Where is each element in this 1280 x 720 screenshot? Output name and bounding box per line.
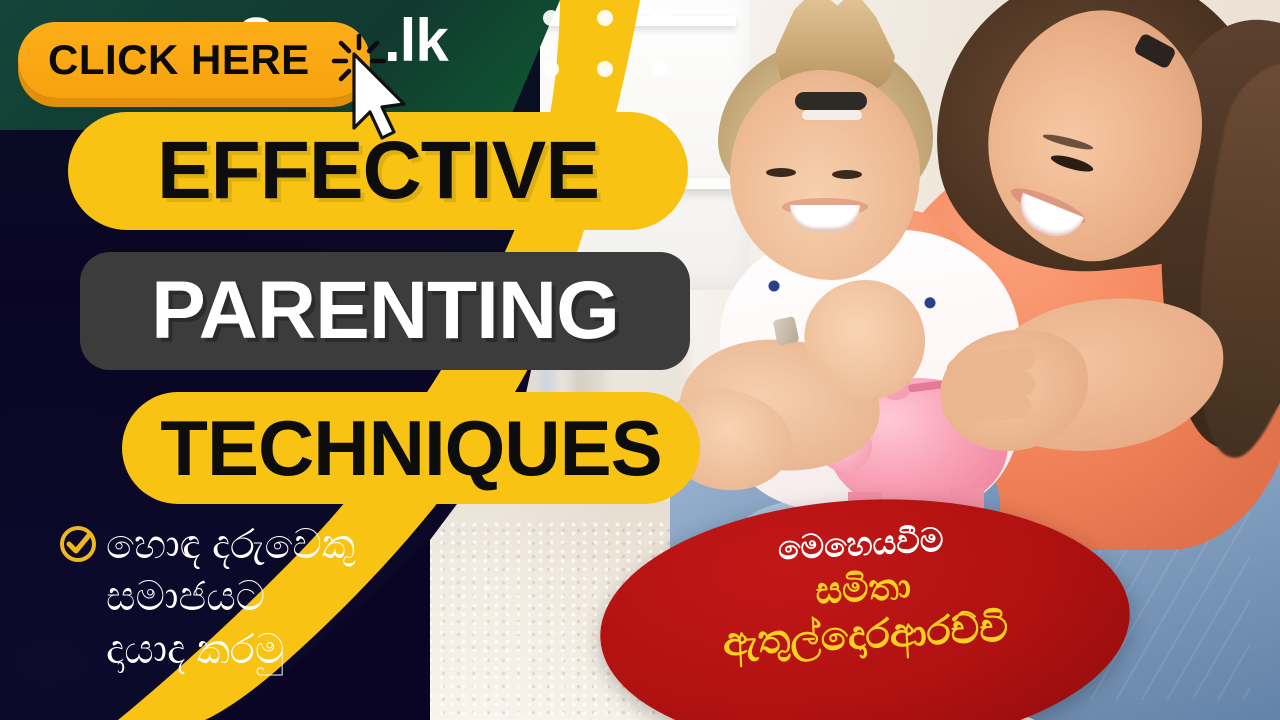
child-eye	[766, 168, 796, 177]
thumbnail-canvas: o .lk EFFECTIVE PARENTING TECHNIQUES CLI…	[0, 0, 1280, 720]
headline-band-parenting: PARENTING	[80, 252, 690, 370]
benefit-line-1: හොඳ දරුවෙකු	[106, 518, 355, 570]
presenter-last-name: ඇතුල්දොරආරච්චි	[722, 605, 1009, 664]
decor-dot	[543, 10, 559, 26]
headline-line-3: TECHNIQUES	[160, 403, 661, 494]
benefit-line-2: සමාජයට	[106, 570, 355, 622]
child-hair-band-light	[802, 110, 862, 120]
presenter-first-name: සමිතා	[814, 566, 912, 613]
benefit-text: හොඳ දරුවෙකු සමාජයට දායාද කරමු	[106, 518, 355, 675]
presenter-role: මෙහෙයවීම	[777, 522, 945, 567]
decor-dot	[597, 61, 613, 77]
child-hair-band	[795, 92, 867, 110]
click-here-button[interactable]: CLICK HERE	[18, 22, 370, 98]
headline-line-2: PARENTING	[151, 264, 619, 358]
headline-band-techniques: TECHNIQUES	[122, 392, 700, 504]
decor-dot	[597, 10, 613, 26]
benefit-bullet: හොඳ දරුවෙකු සමාජයට දායාද කරමු	[58, 518, 488, 675]
presenter-badge: මෙහෙයවීම සමිතා ඇතුල්දොරආරච්චි	[594, 486, 1136, 720]
decor-dot	[651, 10, 667, 26]
brand-mark-icon	[315, 0, 359, 20]
check-circle-icon	[58, 524, 98, 564]
click-here-label: CLICK HERE	[48, 39, 310, 81]
decor-dot	[543, 61, 559, 77]
dot-grid-decoration	[543, 10, 667, 128]
benefit-line-3: දායාද කරමු	[106, 623, 355, 675]
decor-dot	[651, 61, 667, 77]
child-eye	[832, 170, 862, 179]
mouse-cursor-icon	[348, 52, 410, 140]
